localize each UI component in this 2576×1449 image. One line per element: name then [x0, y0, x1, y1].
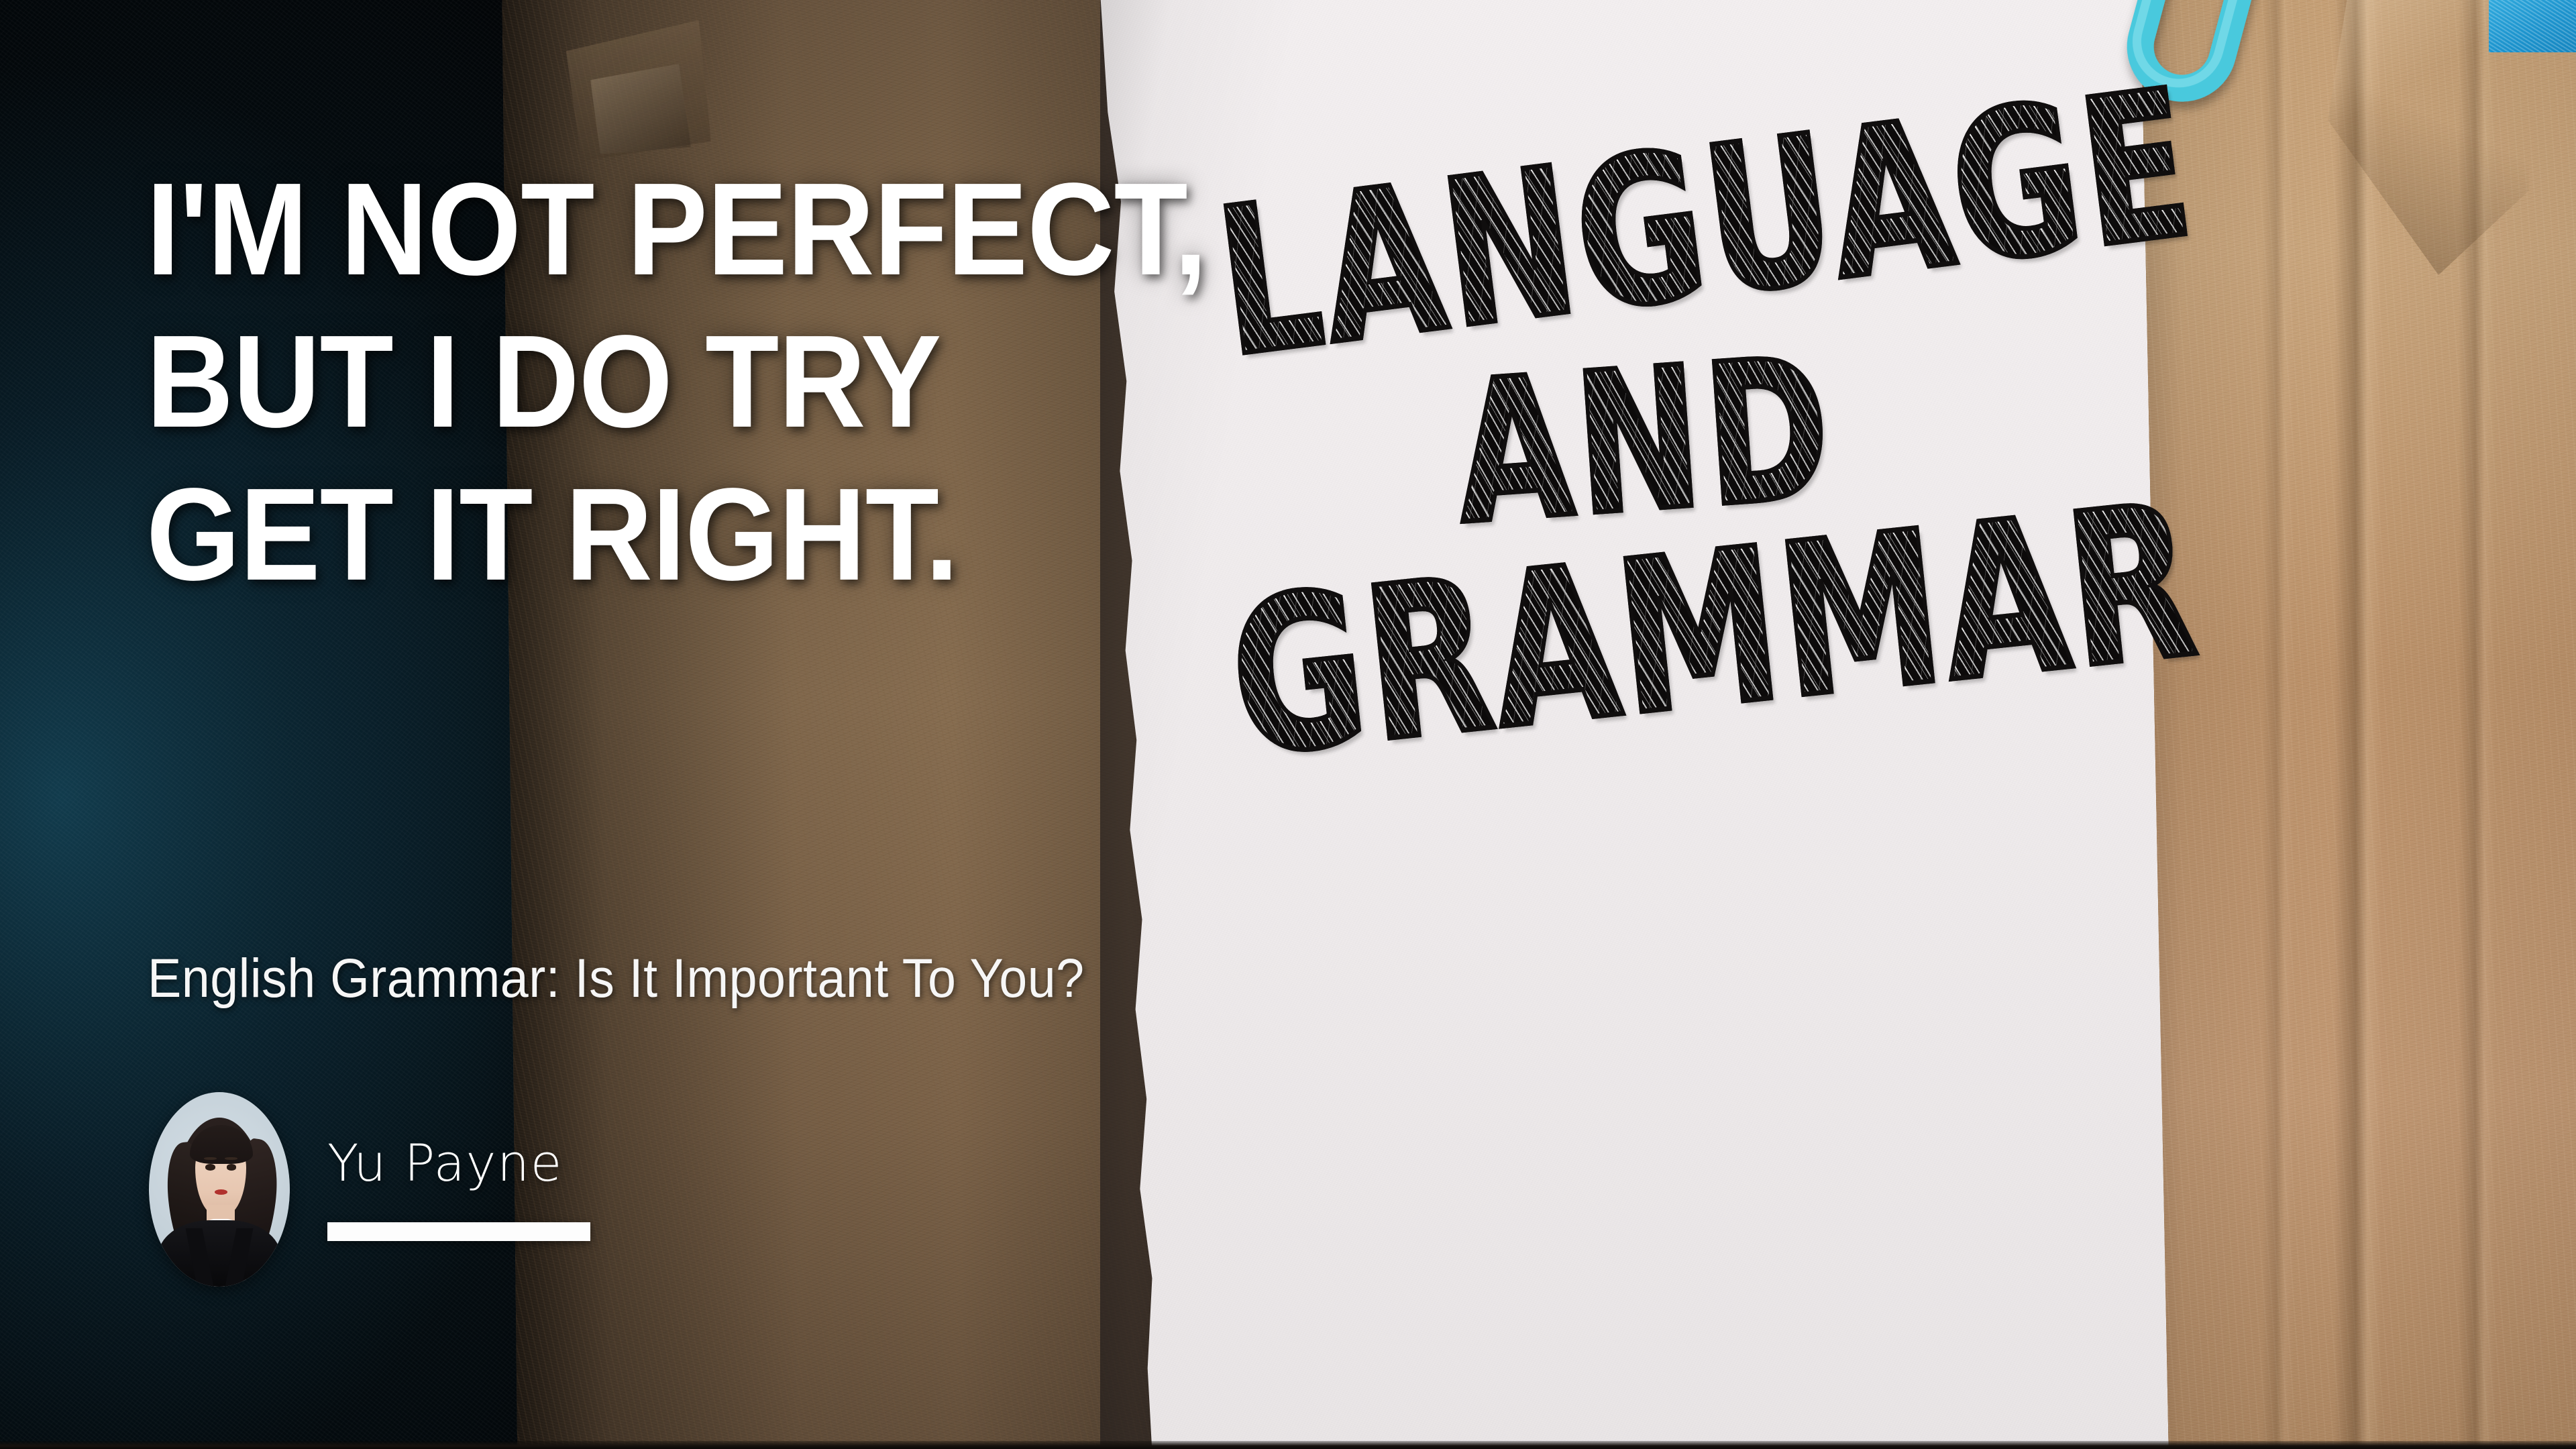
bottom-edge-strip [0, 1441, 2576, 1449]
author-text-column: Yu Payne [327, 1138, 590, 1241]
blue-corner-patch [2489, 0, 2576, 52]
author-underline-bar [327, 1222, 590, 1241]
sketch-word-grammar: GRAMMAR [1220, 458, 2208, 804]
avatar-eye [205, 1164, 215, 1170]
author-byline: Yu Payne [149, 1092, 590, 1287]
author-name: Yu Payne [327, 1138, 590, 1189]
sketched-note-text: LANGUAGE AND GRAMMAR [1181, 127, 2455, 1080]
kraft-torn-flap-highlight [590, 64, 691, 154]
headline-quote: I'M NOT PERFECT, BUT I DO TRY GET IT RIG… [146, 153, 1207, 610]
headline-line-3: GET IT RIGHT. [146, 458, 1207, 610]
article-subtitle: English Grammar: Is It Important To You? [148, 947, 1085, 1010]
quote-card: LANGUAGE AND GRAMMAR I'M NOT PERFECT, BU… [0, 0, 2576, 1449]
avatar-lips [215, 1189, 227, 1195]
avatar [149, 1092, 290, 1287]
headline-line-1: I'M NOT PERFECT, [146, 153, 1207, 305]
avatar-blazer [158, 1220, 282, 1287]
headline-line-2: BUT I DO TRY [146, 305, 1207, 458]
avatar-eye [227, 1164, 237, 1170]
